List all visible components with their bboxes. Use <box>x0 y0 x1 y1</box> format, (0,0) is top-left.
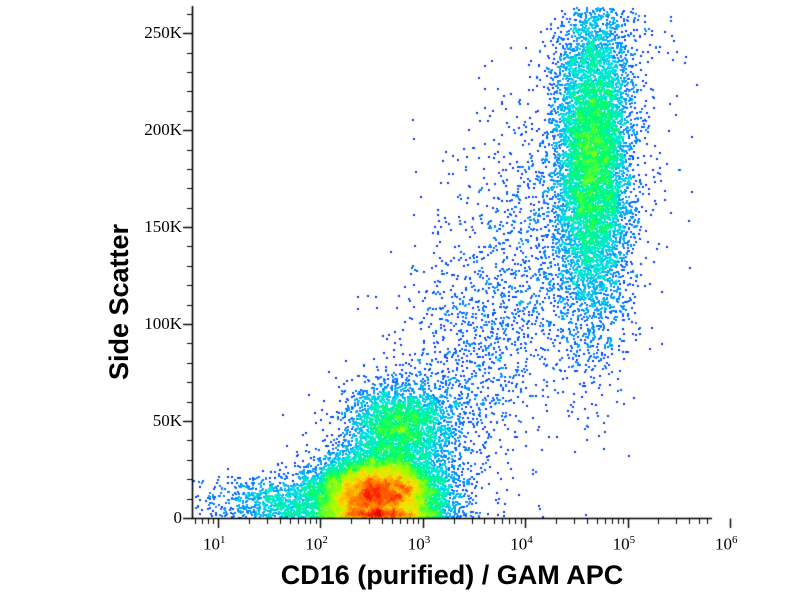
y-tick-label: 100K <box>134 314 182 334</box>
x-axis-title: CD16 (purified) / GAM APC <box>192 560 712 591</box>
x-tick-label: 106 <box>715 534 738 555</box>
y-tick-label: 200K <box>134 120 182 140</box>
y-tick-label: 0 <box>134 508 182 528</box>
y-tick-label: 250K <box>134 23 182 43</box>
x-tick-label: 101 <box>203 534 226 555</box>
y-tick-label: 150K <box>134 217 182 237</box>
x-tick-label: 103 <box>408 534 431 555</box>
x-tick-label: 102 <box>305 534 328 555</box>
x-tick-label: 104 <box>510 534 533 555</box>
x-tick-label: 105 <box>613 534 636 555</box>
y-axis-title: Side Scatter <box>104 224 135 380</box>
flow-cytometry-plot: Side Scatter CD16 (purified) / GAM APC 0… <box>0 0 800 600</box>
y-tick-label: 50K <box>134 411 182 431</box>
